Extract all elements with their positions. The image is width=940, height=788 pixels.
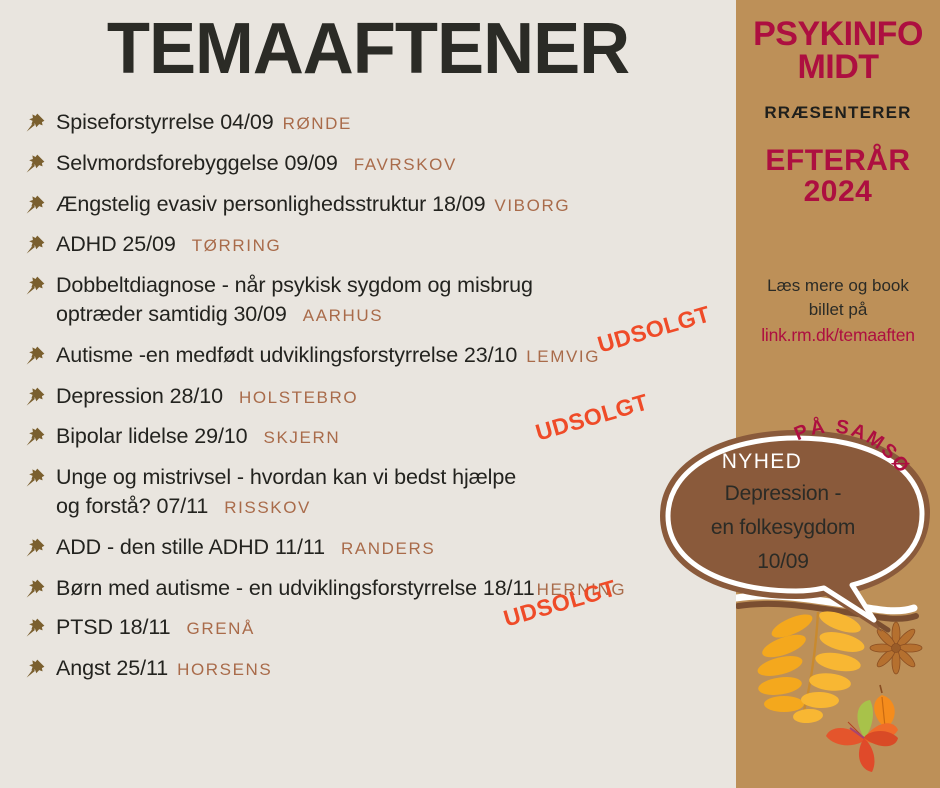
event-row[interactable]: Angst 25/11HORSENS	[24, 654, 740, 683]
event-city: GRENÅ	[187, 619, 255, 638]
event-title: ADHD 25/09	[56, 232, 176, 256]
pushpin-icon	[24, 424, 50, 448]
event-row[interactable]: Bipolar lidelse 29/10SKJERN	[24, 422, 740, 451]
page-title: TEMAAFTENER	[7, 8, 728, 90]
event-city: HORSENS	[177, 660, 272, 679]
event-row[interactable]: Unge og mistrivsel - hvordan kan vi beds…	[24, 463, 740, 521]
event-city: SKJERN	[264, 428, 341, 447]
booking-link[interactable]: link.rm.dk/temaaften	[736, 325, 940, 346]
event-text: Angst 25/11HORSENS	[56, 654, 272, 683]
event-text: Unge og mistrivsel - hvordan kan vi beds…	[56, 463, 516, 521]
event-city: TØRRING	[192, 236, 282, 255]
samso-arc-label: PÅ SAMSØ	[792, 426, 940, 516]
event-city: RANDERS	[341, 539, 435, 558]
pushpin-icon	[24, 535, 50, 559]
event-row[interactable]: Selvmordsforebyggelse 09/09FAVRSKOV	[24, 149, 740, 178]
booking-info: Læs mere og book billet på	[736, 274, 940, 323]
booking-info-line-2: billet på	[746, 298, 930, 323]
presents-label: RRÆSENTERER	[736, 103, 940, 123]
news-speech-bubble: NYHED Depression - en folkesygdom 10/09 …	[650, 424, 940, 639]
season-label: EFTERÅR 2024	[736, 145, 940, 208]
event-title: Bipolar lidelse 29/10	[56, 424, 248, 448]
pushpin-icon	[24, 384, 50, 408]
pushpin-icon	[24, 465, 50, 489]
pushpin-icon	[24, 343, 50, 367]
event-title: PTSD 18/11	[56, 615, 171, 639]
event-title: Autisme -en medfødt udviklingsforstyrrel…	[56, 343, 517, 367]
event-row[interactable]: Ængstelig evasiv personlighedsstruktur 1…	[24, 190, 740, 219]
event-city: FAVRSKOV	[354, 155, 457, 174]
event-row[interactable]: ADHD 25/09TØRRING	[24, 230, 740, 259]
event-city: RISSKOV	[224, 498, 311, 517]
event-text: PTSD 18/11GRENÅ	[56, 613, 255, 642]
event-title: Depression 28/10	[56, 384, 223, 408]
event-title-line-2: optræder samtidig 30/09	[56, 302, 287, 326]
event-title: Spiseforstyrrelse 04/09	[56, 110, 274, 134]
pushpin-icon	[24, 576, 50, 600]
event-text: Bipolar lidelse 29/10SKJERN	[56, 422, 340, 451]
event-text: Selvmordsforebyggelse 09/09FAVRSKOV	[56, 149, 457, 178]
event-city: HOLSTEBRO	[239, 388, 358, 407]
event-text: ADD - den stille ADHD 11/11RANDERS	[56, 533, 435, 562]
event-city: AARHUS	[303, 306, 383, 325]
pushpin-icon	[24, 273, 50, 297]
pushpin-icon	[24, 151, 50, 175]
event-text: Depression 28/10HOLSTEBRO	[56, 382, 358, 411]
brand-name: PSYKINFO MIDT	[736, 18, 940, 85]
season-line-1: EFTERÅR	[736, 145, 940, 177]
event-title: Unge og mistrivsel - hvordan kan vi beds…	[56, 465, 516, 489]
event-text: Ængstelig evasiv personlighedsstruktur 1…	[56, 190, 570, 219]
event-row[interactable]: ADD - den stille ADHD 11/11RANDERS	[24, 533, 740, 562]
event-title: Ængstelig evasiv personlighedsstruktur 1…	[56, 192, 485, 216]
event-row[interactable]: Dobbeltdiagnose - når psykisk sygdom og …	[24, 271, 740, 329]
poster-canvas: TEMAAFTENER PSYKINFO MIDT RRÆSENTERER EF…	[0, 0, 940, 788]
event-title: Børn med autisme - en udviklingsforstyrr…	[56, 576, 535, 600]
booking-info-line-1: Læs mere og book	[746, 274, 930, 299]
event-text: ADHD 25/09TØRRING	[56, 230, 281, 259]
event-title-line-2: og forstå? 07/11	[56, 494, 208, 518]
event-text: Autisme -en medfødt udviklingsforstyrrel…	[56, 341, 600, 370]
pushpin-icon	[24, 232, 50, 256]
event-title: Dobbeltdiagnose - når psykisk sygdom og …	[56, 273, 533, 297]
pushpin-icon	[24, 192, 50, 216]
event-title: Angst 25/11	[56, 656, 168, 680]
brand-line-2: MIDT	[736, 51, 940, 84]
pushpin-icon	[24, 656, 50, 680]
event-row[interactable]: PTSD 18/11GRENÅ	[24, 613, 740, 642]
event-text: Spiseforstyrrelse 04/09RØNDE	[56, 108, 352, 137]
event-row[interactable]: Spiseforstyrrelse 04/09RØNDE	[24, 108, 740, 137]
event-city: RØNDE	[283, 114, 352, 133]
event-title: Selvmordsforebyggelse 09/09	[56, 151, 338, 175]
pushpin-icon	[24, 615, 50, 639]
event-text: Dobbeltdiagnose - når psykisk sygdom og …	[56, 271, 533, 329]
event-row[interactable]: Børn med autisme - en udviklingsforstyrr…	[24, 574, 740, 603]
pushpin-icon	[24, 110, 50, 134]
event-city: VIBORG	[494, 196, 570, 215]
event-city: LEMVIG	[526, 347, 600, 366]
event-title: ADD - den stille ADHD 11/11	[56, 535, 325, 559]
bubble-line-3: 10/09	[668, 550, 898, 574]
brand-line-1: PSYKINFO	[736, 18, 940, 51]
season-line-2: 2024	[736, 176, 940, 208]
